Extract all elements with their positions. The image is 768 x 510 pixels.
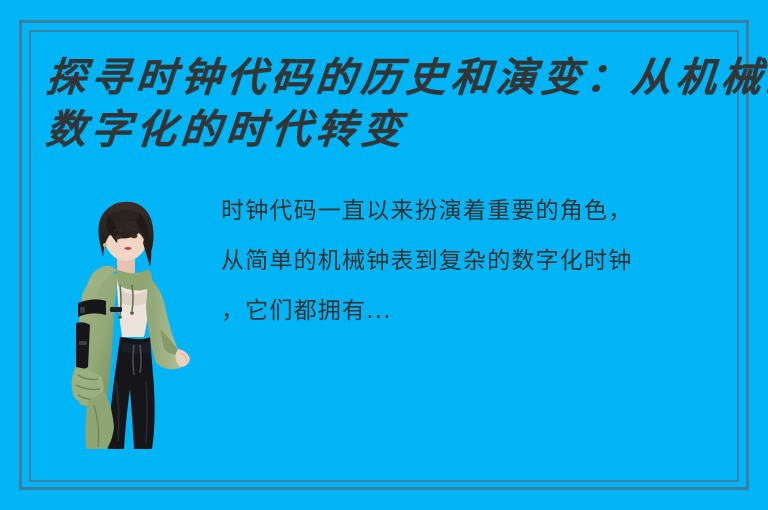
body-line-1: 时钟代码一直以来扮演着重要的角色， bbox=[221, 186, 721, 236]
page-title: 探寻时钟代码的历史和演变：从机械到 数字化的时代转变 bbox=[46, 52, 736, 156]
body-line-3: ，它们都拥有... bbox=[221, 286, 721, 336]
body-text: 时钟代码一直以来扮演着重要的角色， 从简单的机械钟表到复杂的数字化时钟 ，它们都… bbox=[221, 186, 721, 336]
poster-canvas: 探寻时钟代码的历史和演变：从机械到 数字化的时代转变 bbox=[0, 0, 768, 510]
illustration-anime-woman-green-jacket bbox=[60, 191, 201, 449]
title-line-1: 探寻时钟代码的历史和演变：从机械到 bbox=[44, 52, 739, 104]
title-line-2: 数字化的时代转变 bbox=[44, 104, 739, 156]
body-line-2: 从简单的机械钟表到复杂的数字化时钟 bbox=[221, 236, 721, 286]
